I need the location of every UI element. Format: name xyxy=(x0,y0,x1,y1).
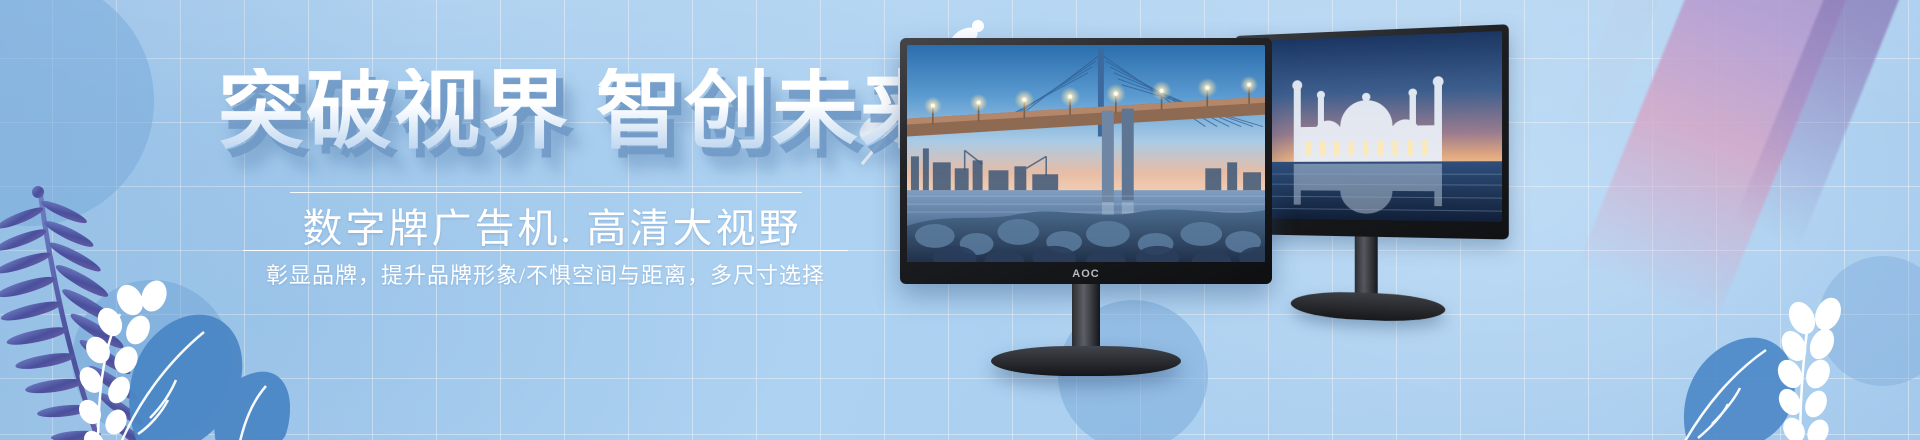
page-title: 突破视界 智创未来 xyxy=(218,68,948,154)
divider-top xyxy=(290,192,802,193)
banner-copy: 突破视界 智创未来 数字牌广告机. 高清大视野 彰显品牌，提升品牌形象/不惧空间… xyxy=(0,0,900,440)
primary-monitor-bezel: AOC xyxy=(900,38,1272,284)
primary-monitor-base xyxy=(991,346,1181,376)
secondary-monitor-screen xyxy=(1241,31,1502,222)
product-banner: 突破视界 智创未来 数字牌广告机. 高清大视野 彰显品牌，提升品牌形象/不惧空间… xyxy=(0,0,1920,440)
secondary-monitor-base xyxy=(1291,290,1445,324)
monitor-brand-logo: AOC xyxy=(1072,268,1099,280)
mosque-scene-image xyxy=(1241,31,1502,222)
product-monitors: AOC xyxy=(880,0,1640,440)
primary-monitor: AOC xyxy=(900,38,1272,368)
primary-monitor-screen xyxy=(907,45,1265,262)
secondary-monitor xyxy=(1235,24,1509,318)
banner-subtitle: 数字牌广告机. 高清大视野 xyxy=(292,196,812,254)
divider-bottom xyxy=(243,250,848,251)
secondary-monitor-bezel xyxy=(1235,24,1509,239)
banner-tagline: 彰显品牌，提升品牌形象/不惧空间与距离，多尺寸选择 xyxy=(243,258,848,290)
bridge-scene-image xyxy=(907,45,1265,262)
